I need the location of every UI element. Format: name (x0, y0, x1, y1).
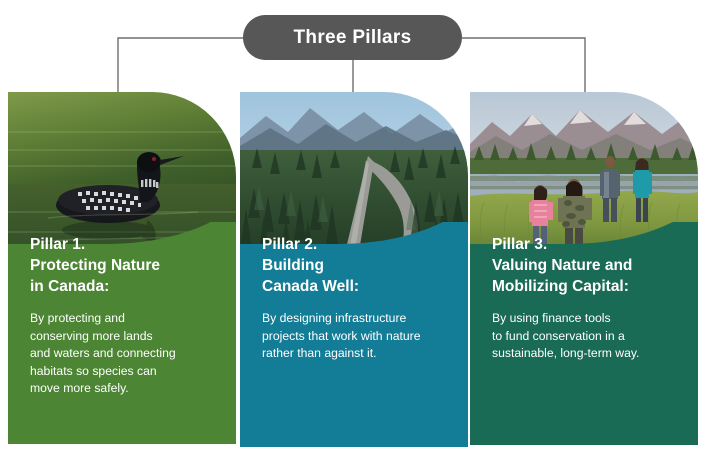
pillar-1-text: Pillar 1. Protecting Nature in Canada: B… (30, 234, 226, 398)
three-pillars-badge: Three Pillars (243, 15, 462, 60)
pillar-card-1[interactable]: Pillar 1. Protecting Nature in Canada: B… (8, 92, 236, 444)
three-pillars-label: Three Pillars (294, 27, 412, 49)
pillar-1-body: By protecting and conserving more lands … (30, 310, 226, 398)
pillar-2-body: By designing infrastructure projects tha… (262, 310, 458, 363)
pillar-3-body: By using finance tools to fund conservat… (492, 310, 688, 363)
pillar-card-2[interactable]: Pillar 2. Building Canada Well: By desig… (240, 92, 468, 447)
pillar-2-text: Pillar 2. Building Canada Well: By desig… (262, 234, 458, 363)
connector-left (118, 38, 243, 95)
pillar-1-title: Pillar 1. Protecting Nature in Canada: (30, 234, 226, 297)
connector-right (462, 38, 585, 95)
pillar-3-text: Pillar 3. Valuing Nature and Mobilizing … (492, 234, 688, 363)
pillar-3-title: Pillar 3. Valuing Nature and Mobilizing … (492, 234, 688, 297)
pillar-card-3[interactable]: Pillar 3. Valuing Nature and Mobilizing … (470, 92, 698, 445)
pillar-2-title: Pillar 2. Building Canada Well: (262, 234, 458, 297)
